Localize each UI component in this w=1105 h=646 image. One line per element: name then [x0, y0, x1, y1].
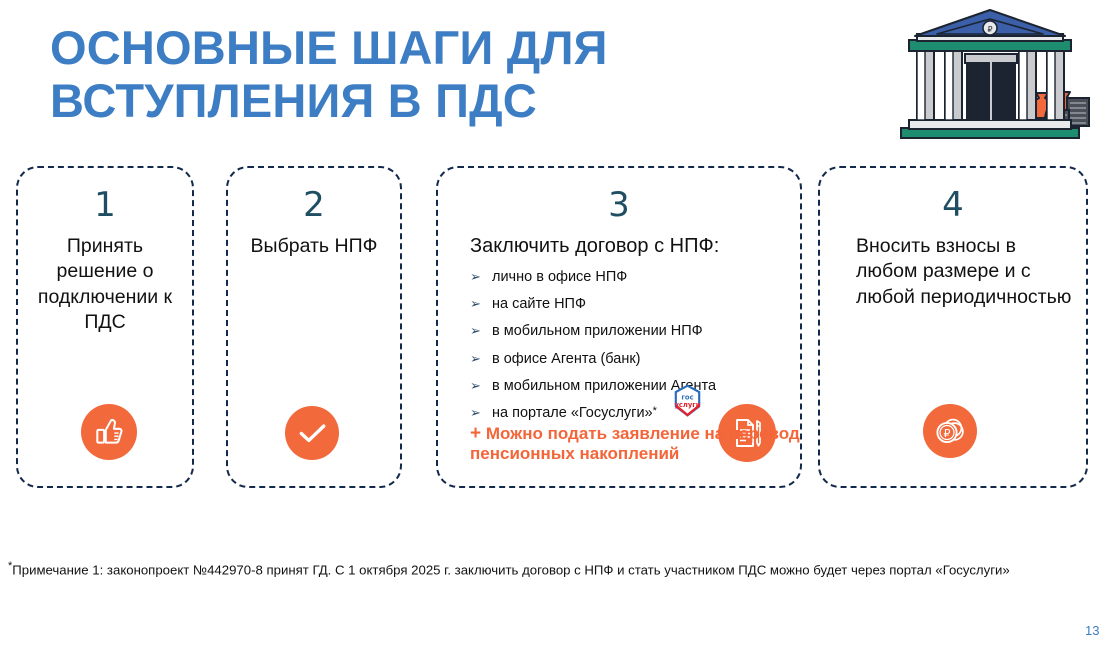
- arrow-bullet-icon: ➢: [470, 378, 492, 394]
- gosuslugi-logo-line2: услуги: [674, 401, 700, 409]
- step-number-3: 3: [438, 188, 800, 222]
- step-text-2: Выбрать НПФ: [228, 234, 400, 259]
- footnote: *Примечание 1: законопроект №442970-8 пр…: [8, 560, 1098, 578]
- gosuslugi-logo-icon: гос услуги: [669, 383, 706, 419]
- slide-root: ОСНОВНЫЕ ШАГИ ДЛЯ ВСТУПЛЕНИЯ В ПДС ₽: [0, 0, 1105, 646]
- thumbs-up-icon: [81, 404, 137, 460]
- list-item: ➢ в мобильном приложении НПФ: [470, 323, 800, 340]
- list-item-label: лично в офисе НПФ: [492, 269, 627, 286]
- arrow-bullet-icon: ➢: [470, 405, 492, 421]
- svg-text:₽: ₽: [944, 427, 951, 440]
- arrow-bullet-icon: ➢: [470, 351, 492, 367]
- arrow-bullet-icon: ➢: [470, 296, 492, 312]
- list-item-label: в офисе Агента (банк): [492, 351, 641, 368]
- list-item-label: в мобильном приложении НПФ: [492, 323, 703, 340]
- list-item-label: на сайте НПФ: [492, 296, 586, 313]
- svg-text:₽: ₽: [987, 25, 992, 34]
- list-item: ➢ в офисе Агента (банк): [470, 351, 800, 368]
- step-number-4: 4: [820, 188, 1086, 222]
- list-item: ➢ в мобильном приложении Агента: [470, 378, 800, 395]
- step-number-2: 2: [228, 188, 400, 222]
- footnote-text: Примечание 1: законопроект №442970-8 при…: [12, 562, 1009, 577]
- bank-building-illustration: ₽: [893, 6, 1098, 154]
- step-text-1: Принять решение о подключении к ПДС: [18, 234, 192, 335]
- step-card-3[interactable]: 3 Заключить договор с НПФ: ➢ лично в офи…: [436, 166, 802, 488]
- plus-sign-icon: +: [470, 423, 481, 444]
- arrow-bullet-icon: ➢: [470, 269, 492, 285]
- list-item-label: на портале «Госуслуги»: [492, 405, 653, 422]
- list-item: ➢ лично в офисе НПФ: [470, 269, 800, 286]
- page-title-line-1: ОСНОВНЫЕ ШАГИ ДЛЯ: [50, 21, 608, 74]
- page-title-line-2: ВСТУПЛЕНИЯ В ПДС: [50, 75, 690, 128]
- footnote-marker: *: [653, 405, 657, 418]
- step-text-4: Вносить взносы в любом размере и с любой…: [820, 234, 1086, 310]
- ruble-coins-icon: ₽: [923, 404, 977, 458]
- promo-note: + Можно подать заявление на перевод пенс…: [438, 423, 800, 463]
- check-mark-icon: [285, 406, 339, 460]
- step-number-1: 1: [18, 188, 192, 222]
- page-number: 13: [1085, 623, 1101, 638]
- contract-channel-list: ➢ лично в офисе НПФ ➢ на сайте НПФ ➢ в м…: [438, 269, 800, 422]
- page-title: ОСНОВНЫЕ ШАГИ ДЛЯ ВСТУПЛЕНИЯ В ПДС: [50, 22, 690, 127]
- arrow-bullet-icon: ➢: [470, 323, 492, 339]
- promo-note-text: Можно подать заявление на перевод пенсио…: [470, 424, 800, 463]
- step-heading-3: Заключить договор с НПФ:: [438, 234, 800, 259]
- list-item: ➢ на сайте НПФ: [470, 296, 800, 313]
